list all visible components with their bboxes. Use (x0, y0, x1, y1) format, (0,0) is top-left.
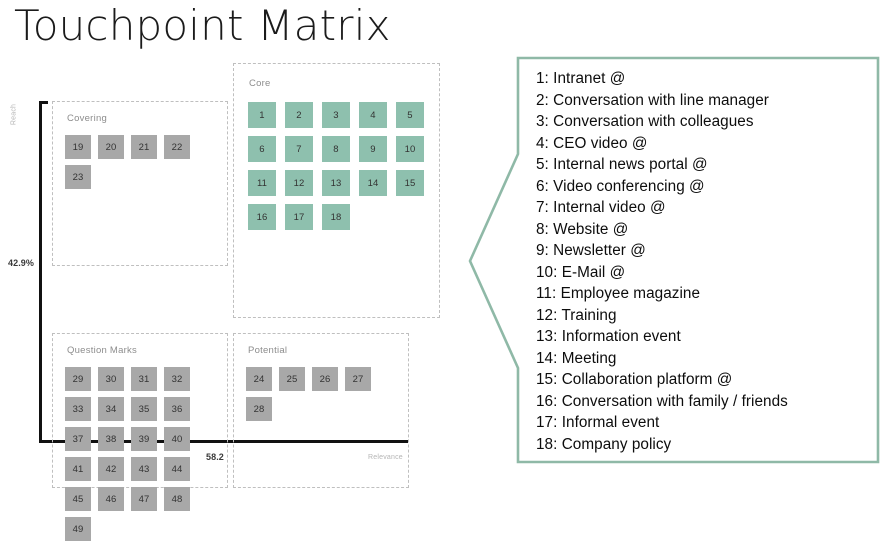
touchpoint-cell[interactable]: 40 (164, 427, 190, 451)
touchpoint-cell[interactable]: 42 (98, 457, 124, 481)
touchpoint-cell[interactable]: 38 (98, 427, 124, 451)
quadrant-cells: 2930313233343536373839404142434445464748… (65, 367, 221, 541)
touchpoint-cell[interactable]: 15 (396, 170, 424, 196)
touchpoint-cell[interactable]: 16 (248, 204, 276, 230)
touchpoint-cell[interactable]: 4 (359, 102, 387, 128)
legend-item: 12: Training (536, 305, 866, 327)
quadrant-title: Covering (67, 113, 107, 124)
legend-item: 18: Company policy (536, 434, 866, 456)
touchpoint-cell[interactable]: 10 (396, 136, 424, 162)
touchpoint-cell[interactable]: 39 (131, 427, 157, 451)
touchpoint-cell[interactable]: 11 (248, 170, 276, 196)
y-axis-tick-label: 42.9% (8, 258, 34, 268)
touchpoint-cell[interactable]: 36 (164, 397, 190, 421)
touchpoint-cell[interactable]: 13 (322, 170, 350, 196)
touchpoint-cell[interactable]: 43 (131, 457, 157, 481)
touchpoint-cell[interactable]: 41 (65, 457, 91, 481)
touchpoint-cell[interactable]: 28 (246, 397, 272, 421)
legend-item: 3: Conversation with colleagues (536, 111, 866, 133)
touchpoint-cell[interactable]: 7 (285, 136, 313, 162)
touchpoint-cell[interactable]: 24 (246, 367, 272, 391)
touchpoint-cell[interactable]: 34 (98, 397, 124, 421)
y-axis-arrow-cap (39, 101, 48, 104)
page-title: Touchpoint Matrix (14, 0, 391, 52)
touchpoint-cell[interactable]: 31 (131, 367, 157, 391)
legend-item: 1: Intranet @ (536, 68, 866, 90)
touchpoint-cell[interactable]: 26 (312, 367, 338, 391)
touchpoint-cell[interactable]: 29 (65, 367, 91, 391)
quadrant-covering: Covering 1920212223 (52, 101, 228, 266)
touchpoint-cell[interactable]: 9 (359, 136, 387, 162)
touchpoint-cell[interactable]: 32 (164, 367, 190, 391)
legend-item: 6: Video conferencing @ (536, 176, 866, 198)
legend-item: 9: Newsletter @ (536, 240, 866, 262)
legend-item: 4: CEO video @ (536, 133, 866, 155)
legend-callout: 1: Intranet @2: Conversation with line m… (466, 56, 880, 464)
y-axis-line (39, 101, 42, 442)
touchpoint-cell[interactable]: 19 (65, 135, 91, 159)
legend-item: 5: Internal news portal @ (536, 154, 866, 176)
legend-item: 2: Conversation with line manager (536, 90, 866, 112)
quadrant-core: Core 123456789101112131415161718 (233, 63, 440, 318)
quadrant-title: Core (249, 78, 271, 89)
touchpoint-cell[interactable]: 22 (164, 135, 190, 159)
touchpoint-matrix-chart: Reach Relevance 42.9% 58.2 Covering 1920… (0, 55, 470, 471)
legend-item: 14: Meeting (536, 348, 866, 370)
legend-item: 10: E-Mail @ (536, 262, 866, 284)
touchpoint-cell[interactable]: 20 (98, 135, 124, 159)
touchpoint-cell[interactable]: 1 (248, 102, 276, 128)
touchpoint-cell[interactable]: 47 (131, 487, 157, 511)
touchpoint-cell[interactable]: 35 (131, 397, 157, 421)
touchpoint-cell[interactable]: 12 (285, 170, 313, 196)
legend-item: 17: Informal event (536, 412, 866, 434)
quadrant-cells: 1920212223 (65, 135, 221, 189)
y-axis-label: Reach (11, 95, 18, 135)
x-axis-origin-tick (39, 434, 42, 443)
legend-item-list: 1: Intranet @2: Conversation with line m… (536, 68, 866, 455)
touchpoint-cell[interactable]: 45 (65, 487, 91, 511)
legend-item: 11: Employee magazine (536, 283, 866, 305)
touchpoint-cell[interactable]: 33 (65, 397, 91, 421)
legend-item: 15: Collaboration platform @ (536, 369, 866, 391)
touchpoint-cell[interactable]: 44 (164, 457, 190, 481)
quadrant-question-marks: Question Marks 2930313233343536373839404… (52, 333, 228, 488)
touchpoint-cell[interactable]: 6 (248, 136, 276, 162)
touchpoint-cell[interactable]: 49 (65, 517, 91, 541)
touchpoint-cell[interactable]: 25 (279, 367, 305, 391)
touchpoint-cell[interactable]: 3 (322, 102, 350, 128)
touchpoint-cell[interactable]: 37 (65, 427, 91, 451)
touchpoint-cell[interactable]: 30 (98, 367, 124, 391)
touchpoint-cell[interactable]: 5 (396, 102, 424, 128)
quadrant-cells: 123456789101112131415161718 (248, 102, 433, 230)
quadrant-cells: 2425262728 (246, 367, 402, 421)
quadrant-title: Question Marks (67, 345, 137, 356)
touchpoint-cell[interactable]: 14 (359, 170, 387, 196)
touchpoint-cell[interactable]: 21 (131, 135, 157, 159)
quadrant-title: Potential (248, 345, 287, 356)
touchpoint-cell[interactable]: 2 (285, 102, 313, 128)
legend-item: 13: Information event (536, 326, 866, 348)
touchpoint-cell[interactable]: 46 (98, 487, 124, 511)
legend-item: 7: Internal video @ (536, 197, 866, 219)
legend-item: 8: Website @ (536, 219, 866, 241)
legend-item: 16: Conversation with family / friends (536, 391, 866, 413)
touchpoint-cell[interactable]: 48 (164, 487, 190, 511)
touchpoint-cell[interactable]: 18 (322, 204, 350, 230)
touchpoint-cell[interactable]: 8 (322, 136, 350, 162)
touchpoint-cell[interactable]: 23 (65, 165, 91, 189)
quadrant-potential: Potential 2425262728 (233, 333, 409, 488)
touchpoint-cell[interactable]: 17 (285, 204, 313, 230)
touchpoint-cell[interactable]: 27 (345, 367, 371, 391)
